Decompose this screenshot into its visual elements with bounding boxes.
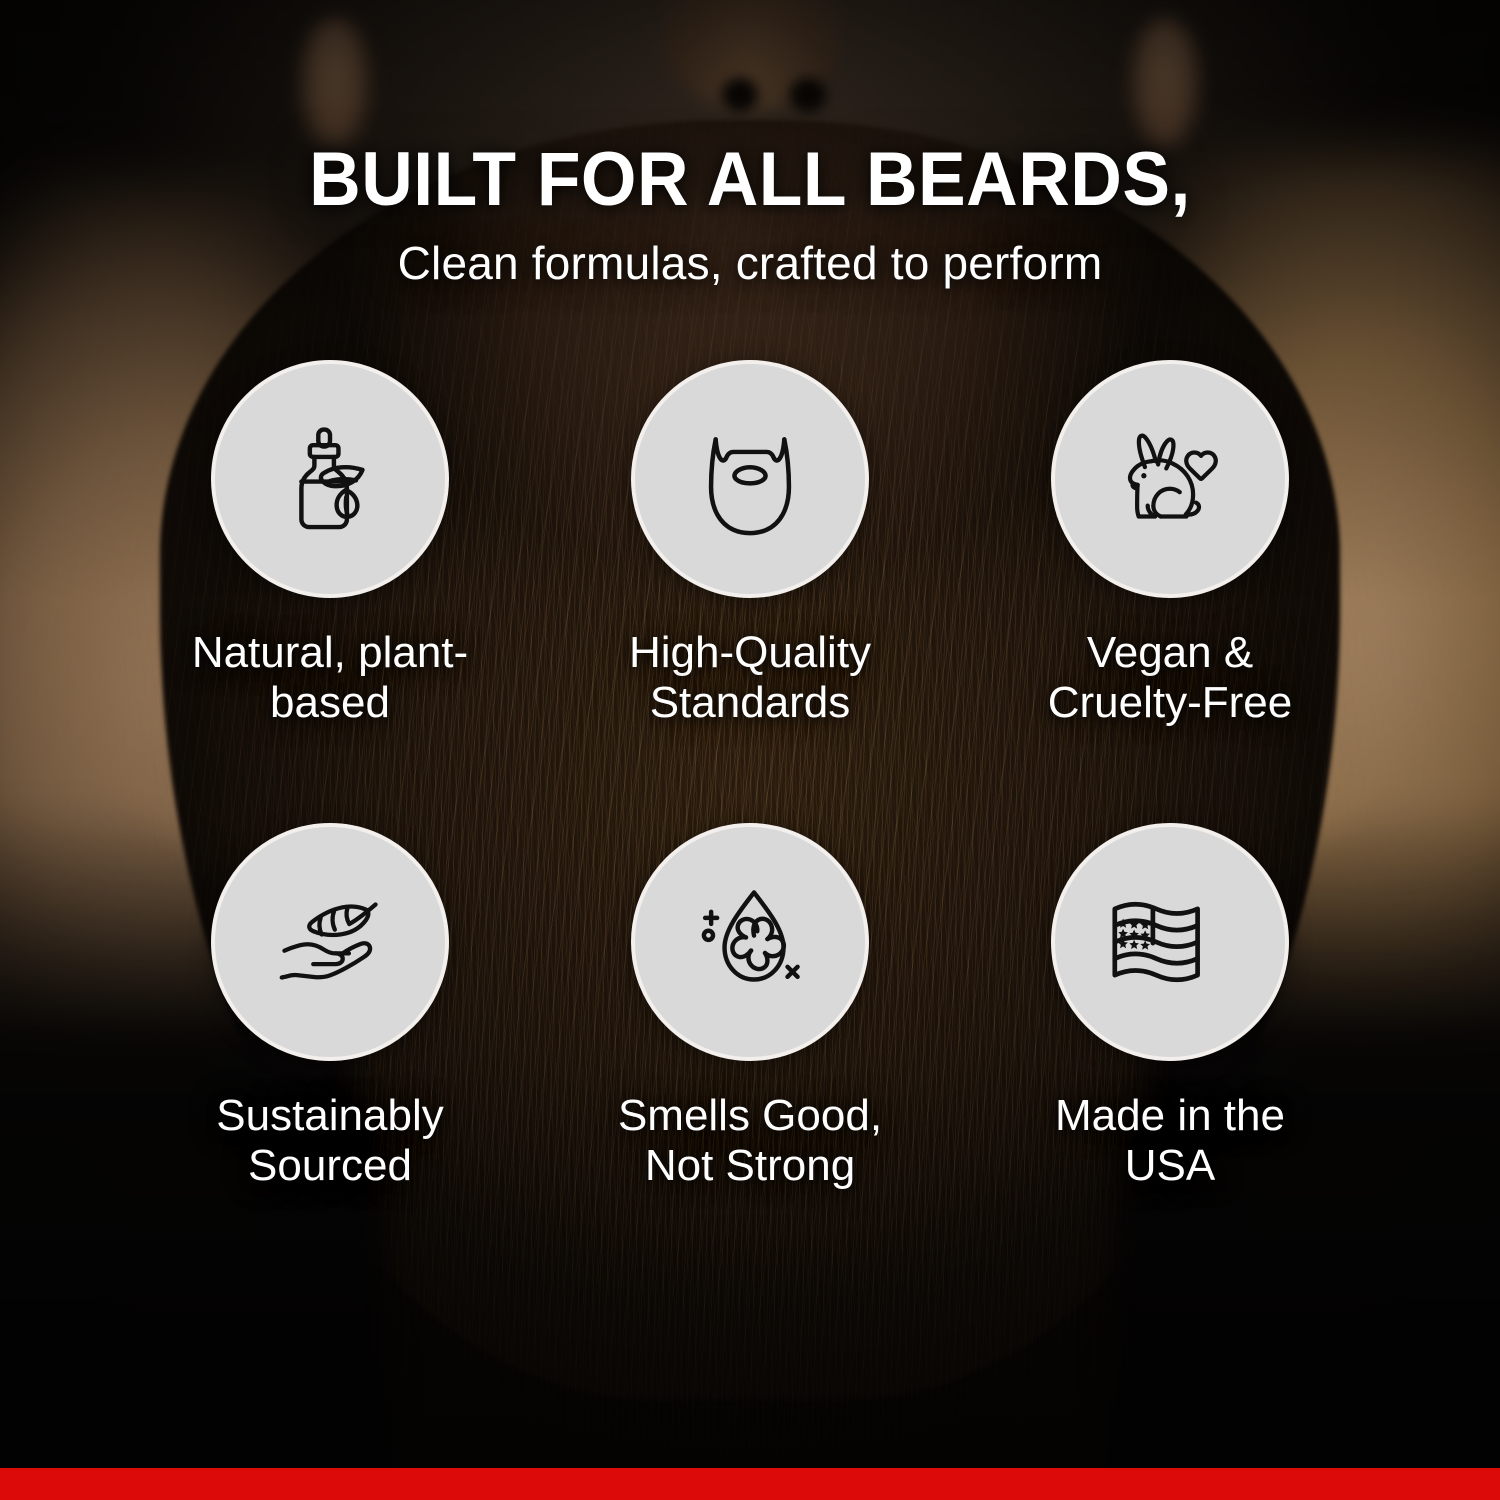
feature-item: High-Quality Standards [540, 360, 960, 727]
hand-feather-icon [263, 875, 397, 1009]
droplet-flower-icon [683, 875, 817, 1009]
feature-item: Made in the USA [960, 823, 1380, 1190]
feature-icon-badge [631, 823, 869, 1061]
infographic-content: BUILT FOR ALL BEARDS, Clean formulas, cr… [0, 0, 1500, 1500]
bottom-accent-bar [0, 1468, 1500, 1500]
feature-item: Sustainably Sourced [120, 823, 540, 1190]
dropper-bottle-leaf-icon [265, 414, 395, 544]
headline: BUILT FOR ALL BEARDS, [309, 142, 1191, 218]
feature-label: Sustainably Sourced [165, 1091, 495, 1190]
product-feature-infographic: BUILT FOR ALL BEARDS, Clean formulas, cr… [0, 0, 1500, 1500]
feature-label: Smells Good, Not Strong [585, 1091, 915, 1190]
subheadline: Clean formulas, crafted to perform [398, 236, 1103, 290]
feature-label: Natural, plant-based [165, 628, 495, 727]
feature-label: Made in the USA [1005, 1091, 1335, 1190]
feature-item: Natural, plant-based [120, 360, 540, 727]
beard-icon [684, 413, 816, 545]
feature-label: Vegan & Cruelty-Free [1005, 628, 1335, 727]
feature-icon-badge [1051, 823, 1289, 1061]
feature-icon-badge [631, 360, 869, 598]
feature-icon-badge [211, 823, 449, 1061]
feature-grid: Natural, plant-based High-Quality Standa… [120, 360, 1380, 1191]
feature-icon-badge [1051, 360, 1289, 598]
usa-flag-icon [1101, 873, 1239, 1011]
feature-item: Smells Good, Not Strong [540, 823, 960, 1190]
feature-item: Vegan & Cruelty-Free [960, 360, 1380, 727]
feature-label: High-Quality Standards [585, 628, 915, 727]
feature-icon-badge [211, 360, 449, 598]
rabbit-heart-icon [1104, 413, 1236, 545]
